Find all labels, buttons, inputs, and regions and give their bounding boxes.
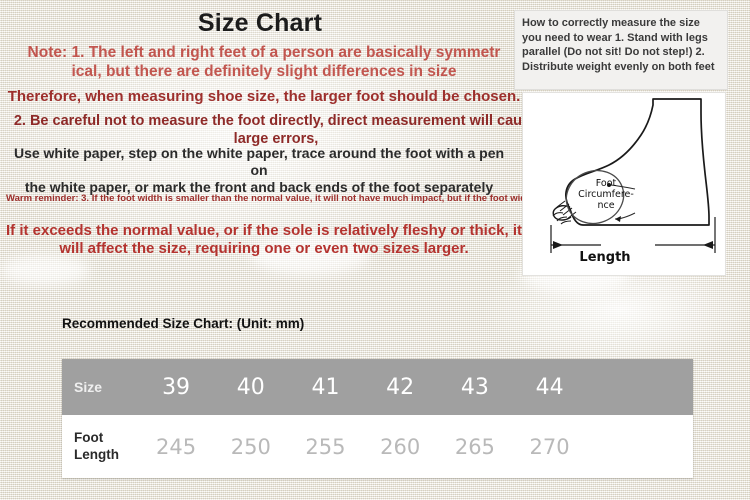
use-white-paper-line-1: Use white paper, step on the white paper…: [14, 145, 504, 178]
measure-instructions-text: How to correctly measure the size you ne…: [522, 16, 720, 74]
exceeds-line-1: If it exceeds the normal value, or if th…: [6, 222, 522, 239]
table-header-size-2: 41: [288, 359, 363, 415]
note-1: Note: 1. The left and right feet of a pe…: [4, 44, 524, 82]
note-1-line-2: ical, but there are definitely slight di…: [4, 63, 524, 82]
warm-reminder-line: Warm reminder: 3. If the foot width is s…: [6, 193, 551, 205]
row-label-line-2: Length: [74, 447, 119, 462]
use-white-paper-note: Use white paper, step on the white paper…: [4, 145, 514, 196]
background-smudge: [0, 255, 90, 285]
table-cell-foot-length-0: 245: [139, 415, 214, 478]
foot-length-label: Length: [575, 250, 635, 265]
foot-circumference-label-line-3: nce: [597, 200, 614, 211]
table-cell-foot-length-3: 260: [363, 415, 438, 478]
table-cell-foot-length-2: 255: [288, 415, 363, 478]
table-caption: Recommended Size Chart: (Unit: mm): [62, 316, 304, 331]
table-header-size-3: 42: [363, 359, 438, 415]
table-cell-foot-length-4: 265: [438, 415, 513, 478]
size-chart-page: Size Chart Note: 1. The left and right f…: [0, 0, 750, 500]
measure-instructions-box: How to correctly measure the size you ne…: [514, 10, 728, 90]
size-table: Size 39 40 41 42 43 44 Foot Length 245 2…: [62, 359, 693, 478]
exceeds-line-2: will affect the size, requiring one or e…: [59, 240, 468, 257]
table-row-label-foot-length: Foot Length: [62, 415, 139, 478]
table-header-size-1: 40: [213, 359, 288, 415]
row-label-line-1: Foot: [74, 430, 103, 445]
table-cell-foot-length-5: 270: [512, 415, 587, 478]
table-header-size-0: 39: [139, 359, 214, 415]
table-header-spacer: [587, 359, 693, 415]
table-header-size-label: Size: [62, 359, 139, 415]
note-1-line-1: Note: 1. The left and right feet of a pe…: [28, 44, 501, 61]
foot-circumference-label-line-1: Foot: [596, 178, 616, 189]
table-cell-foot-length-1: 250: [213, 415, 288, 478]
be-careful-line: 2. Be careful not to measure the foot di…: [4, 113, 548, 148]
table-header-row: Size 39 40 41 42 43 44: [62, 359, 693, 415]
therefore-line: Therefore, when measuring shoe size, the…: [4, 88, 524, 106]
table-row: Foot Length 245 250 255 260 265 270: [62, 415, 693, 478]
page-title: Size Chart: [0, 9, 520, 38]
foot-circumference-label-line-2: Circumfere-: [578, 189, 634, 200]
foot-circumference-label: Foot Circumfere- nce: [575, 178, 637, 212]
table-header-size-5: 44: [512, 359, 587, 415]
table-row-spacer: [587, 415, 693, 478]
table-header-size-4: 43: [438, 359, 513, 415]
exceeds-note: If it exceeds the normal value, or if th…: [4, 222, 524, 259]
